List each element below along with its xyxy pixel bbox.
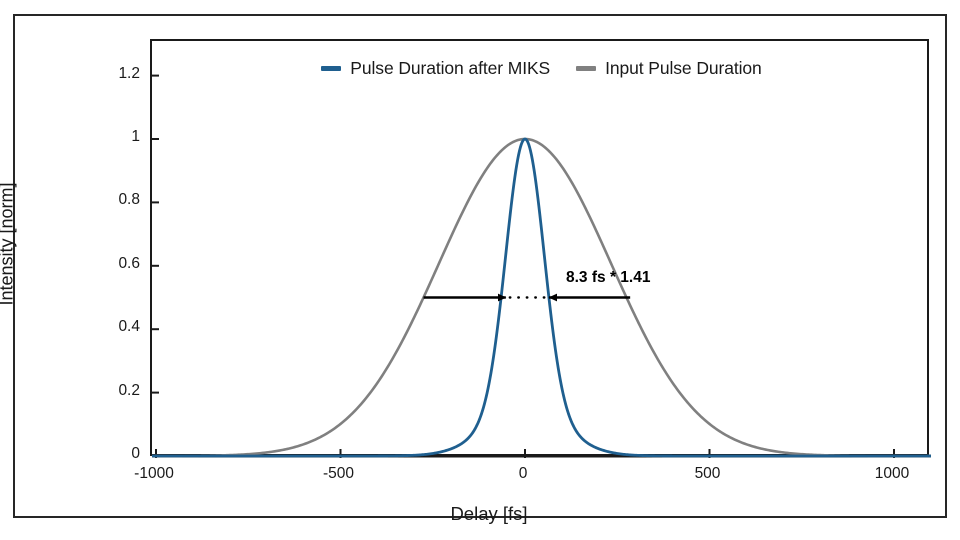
fwhm-annotation-label: 8.3 fs * 1.41 bbox=[566, 269, 650, 287]
x-tick-label: 1000 bbox=[875, 465, 909, 483]
y-axis-ticks bbox=[152, 76, 159, 456]
plot-area: Pulse Duration after MIKS Input Pulse Du… bbox=[150, 39, 929, 456]
x-tick-label: 500 bbox=[695, 465, 721, 483]
series-line-pulse-duration-after-miks bbox=[152, 139, 931, 456]
y-tick-label: 0.2 bbox=[92, 382, 140, 400]
y-tick-label: 1 bbox=[92, 128, 140, 146]
series-line-input-pulse-duration bbox=[152, 139, 931, 456]
x-tick-label: -500 bbox=[323, 465, 354, 483]
y-tick-label: 0.6 bbox=[92, 255, 140, 273]
y-tick-label: 0.8 bbox=[92, 191, 140, 209]
x-axis-title: Delay [fs] bbox=[450, 503, 527, 525]
y-tick-label: 0 bbox=[92, 445, 140, 463]
plot-canvas bbox=[152, 41, 931, 458]
x-tick-label: -1000 bbox=[134, 465, 174, 483]
figure-container: Pulse Duration after MIKS Input Pulse Du… bbox=[13, 14, 947, 518]
y-axis-title: Intensity [norm] bbox=[0, 182, 18, 305]
x-tick-label: 0 bbox=[519, 465, 528, 483]
y-tick-label: 1.2 bbox=[92, 65, 140, 83]
y-tick-label: 0.4 bbox=[92, 318, 140, 336]
